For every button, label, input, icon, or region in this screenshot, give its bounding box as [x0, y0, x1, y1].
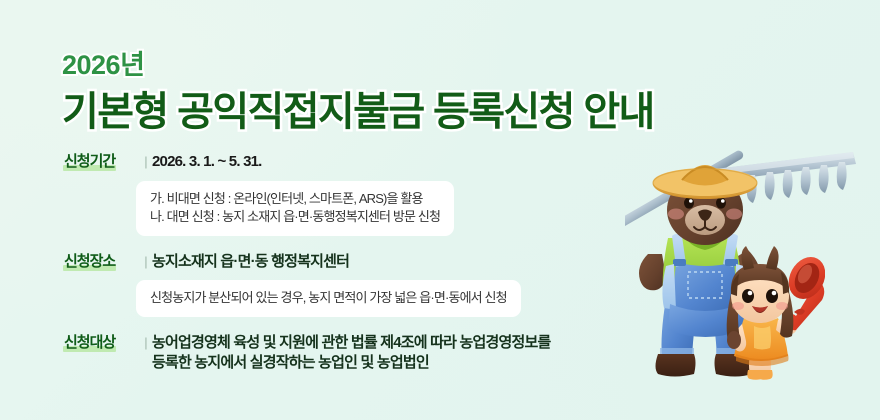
- note-box-period: 가. 비대면 신청 : 온라인(인터넷, 스마트폰, ARS)을 활용 나. 대…: [136, 181, 454, 236]
- divider-icon: |: [140, 333, 152, 353]
- divider-icon: |: [140, 152, 152, 172]
- info-row-target: 신청대상 | 농어업경영체 육성 및 지원에 관한 법률 제4조에 따라 농업경…: [64, 333, 624, 373]
- note-line: 가. 비대면 신청 : 온라인(인터넷, 스마트폰, ARS)을 활용: [150, 190, 440, 208]
- spacer: [64, 236, 624, 252]
- info-value-place: 농지소재지 읍·면·동 행정복지센터: [152, 252, 624, 272]
- divider-icon: |: [140, 252, 152, 272]
- label-wrap: 신청기간: [64, 152, 140, 172]
- info-value-target: 농어업경영체 육성 및 지원에 관한 법률 제4조에 따라 농업경영정보를 등록…: [152, 333, 624, 373]
- label-wrap: 신청장소: [64, 252, 140, 272]
- note-line: 나. 대면 신청 : 농지 소재지 읍·면·동행정복지센터 방문 신청: [150, 208, 440, 226]
- info-label-period: 신청기간: [64, 152, 115, 172]
- info-list: 신청기간 | 2026. 3. 1. ~ 5. 31. 가. 비대면 신청 : …: [64, 152, 624, 373]
- note-line: 신청농지가 분산되어 있는 경우, 농지 면적이 가장 넓은 읍·면·동에서 신…: [150, 289, 507, 307]
- info-label-place: 신청장소: [64, 252, 115, 272]
- year-label: 2026년: [62, 52, 654, 79]
- info-label-target: 신청대상: [64, 333, 115, 353]
- info-row-place: 신청장소 | 농지소재지 읍·면·동 행정복지센터: [64, 252, 624, 272]
- mascot-illustration: [625, 140, 880, 420]
- info-row-period: 신청기간 | 2026. 3. 1. ~ 5. 31.: [64, 152, 624, 172]
- girl-mascot-icon: [710, 240, 825, 390]
- announcement-banner: 2026년 기본형 공익직접지불금 등록신청 안내 신청기간 | 2026. 3…: [0, 0, 880, 420]
- spacer: [64, 317, 624, 333]
- page-title: 기본형 공익직접지불금 등록신청 안내: [62, 91, 654, 134]
- label-wrap: 신청대상: [64, 333, 140, 353]
- note-box-place: 신청농지가 분산되어 있는 경우, 농지 면적이 가장 넓은 읍·면·동에서 신…: [136, 280, 521, 317]
- info-value-period: 2026. 3. 1. ~ 5. 31.: [152, 152, 624, 172]
- value-line: 등록한 농지에서 실경작하는 농업인 및 농업법인: [152, 353, 624, 373]
- headline-block: 2026년 기본형 공익직접지불금 등록신청 안내: [62, 52, 654, 134]
- value-line: 농어업경영체 육성 및 지원에 관한 법률 제4조에 따라 농업경영정보를: [152, 333, 624, 353]
